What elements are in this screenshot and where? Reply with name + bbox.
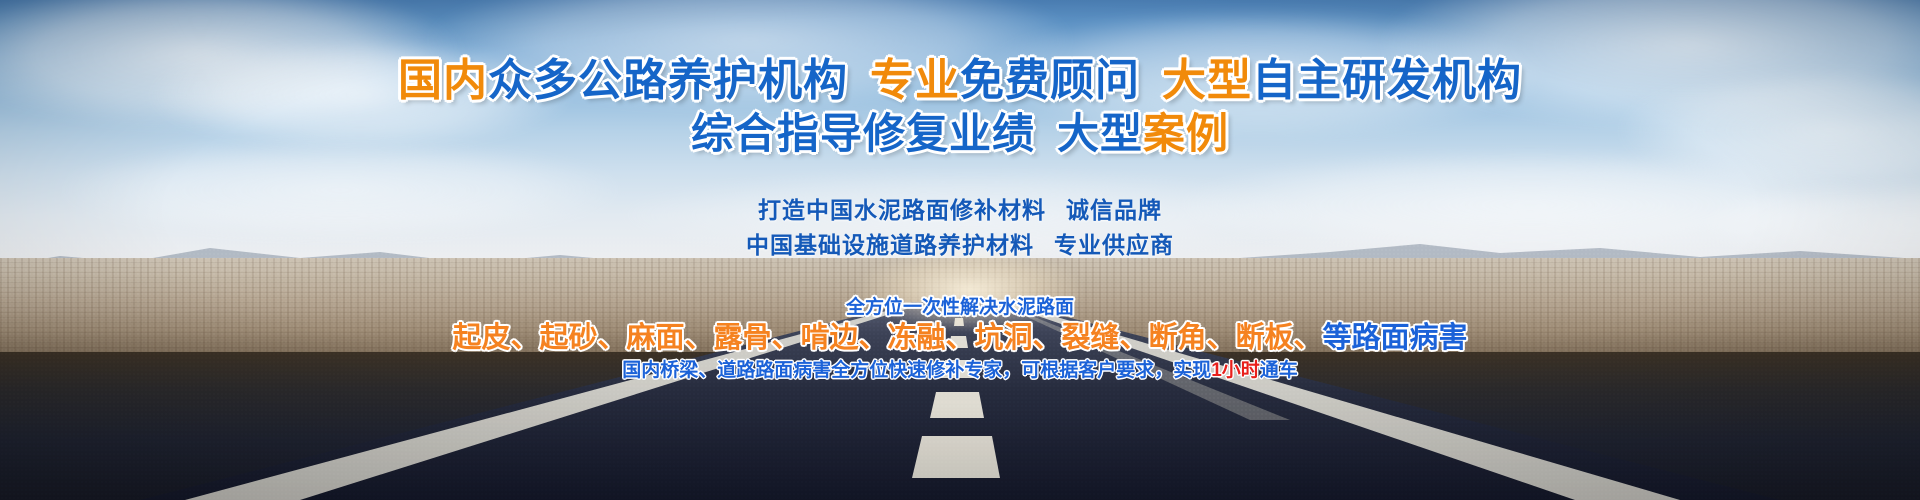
slogan-1a: 打造中国水泥路面修补材料 [758,197,1046,223]
headline-seg-zizhuyanfa: 自主研发机构 [1252,56,1522,105]
headline-seg-guonei: 国内 [398,56,488,105]
footer-text-a: 国内桥梁、道路路面病害全方位快速修补专家，可根据客户要求，实现 [622,360,1211,381]
headline-seg-daxing-2: 大型 [1057,110,1143,157]
footer-text-b: 通车 [1260,360,1298,381]
damage-list: 起皮、起砂、麻面、露骨、啃边、冻融、坑洞、裂缝、断角、断板、 [452,322,1322,354]
headline-seg-zhuanye: 专业 [870,56,960,105]
damage-suffix: 等路面病害 [1323,322,1468,354]
slogan-2b: 专业供应商 [1054,232,1174,258]
headline-seg-anli: 案例 [1143,110,1229,157]
headline-seg-mianfei: 免费顾问 [960,56,1140,105]
promo-banner: 国内众多公路养护机构专业免费顾问大型自主研发机构 综合指导修复业绩大型案例 打造… [0,0,1920,500]
headline-seg-zhongduo: 众多公路养护机构 [488,56,848,105]
headline-line-1: 国内众多公路养护机构专业免费顾问大型自主研发机构 [0,44,1920,108]
bottom-footer-line: 国内桥梁、道路路面病害全方位快速修补专家，可根据客户要求，实现1小时通车 [0,355,1920,382]
headline-seg-zonghezhidao: 综合指导修复业绩 [691,110,1035,157]
slogan-1b: 诚信品牌 [1066,197,1162,223]
banner-text-content: 国内众多公路养护机构专业免费顾问大型自主研发机构 综合指导修复业绩大型案例 打造… [0,0,1920,500]
bottom-damage-line: 起皮、起砂、麻面、露骨、啃边、冻融、坑洞、裂缝、断角、断板、等路面病害 [0,314,1920,356]
slogan-line-1: 打造中国水泥路面修补材料诚信品牌 [0,191,1920,225]
headline-line-2: 综合指导修复业绩大型案例 [0,100,1920,161]
slogan-line-2: 中国基础设施道路养护材料专业供应商 [0,226,1920,260]
footer-highlight: 1小时 [1211,360,1260,381]
slogan-2a: 中国基础设施道路养护材料 [746,232,1034,258]
headline-seg-daxing: 大型 [1162,56,1252,105]
